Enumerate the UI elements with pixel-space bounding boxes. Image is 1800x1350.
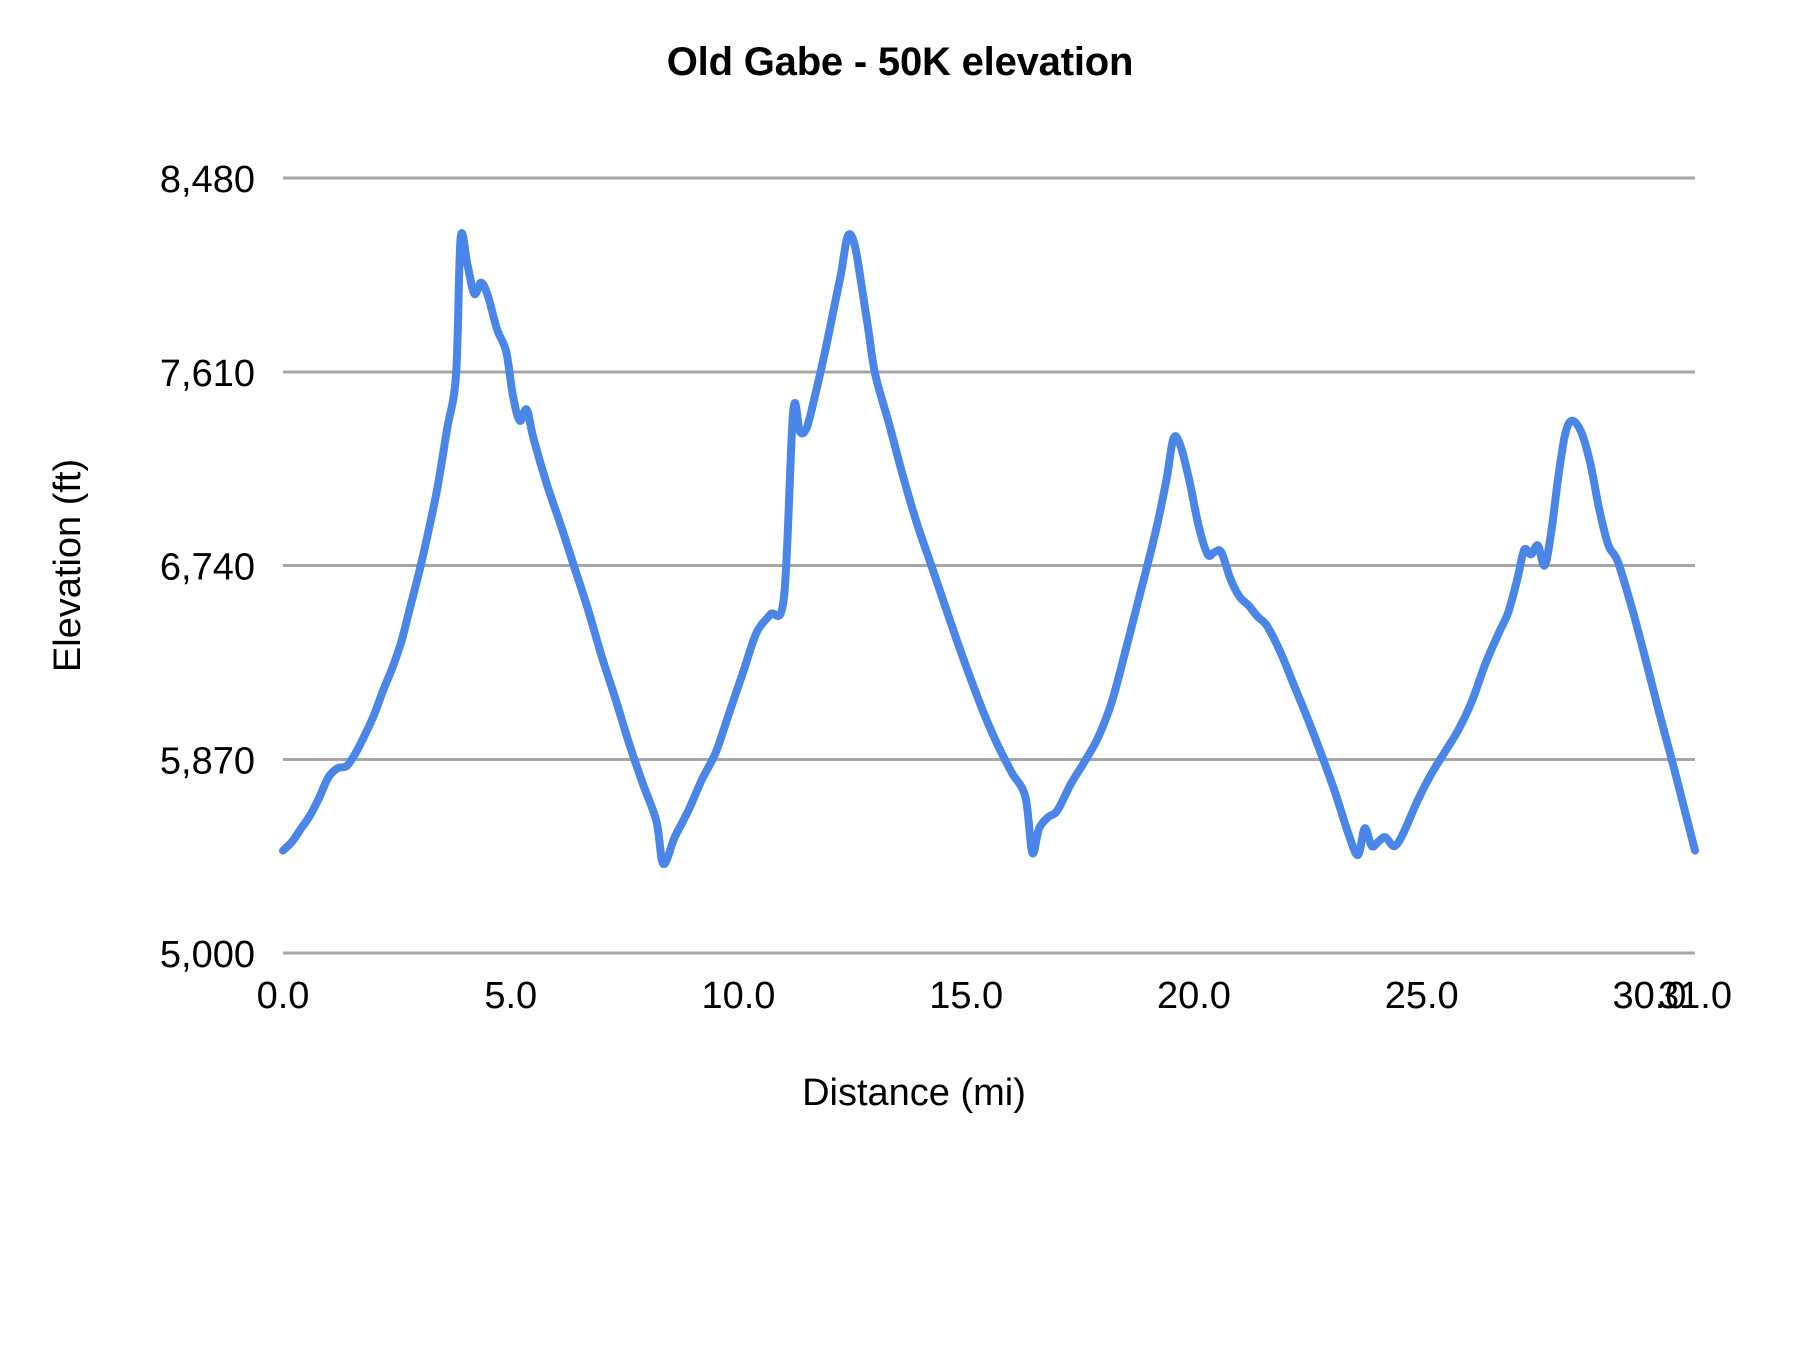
y-axis-tick-labels: 5,0005,8706,7407,6108,480 xyxy=(160,159,255,976)
y-tick-label: 6,740 xyxy=(160,547,255,589)
y-tick-label: 5,870 xyxy=(160,740,255,782)
x-tick-label: 15.0 xyxy=(929,975,1003,1017)
y-tick-label: 7,610 xyxy=(160,353,255,395)
data-series-group xyxy=(283,233,1695,864)
x-tick-label: 31.0 xyxy=(1658,975,1732,1017)
y-axis-title: Elevation (ft) xyxy=(47,459,89,672)
x-tick-label: 5.0 xyxy=(484,975,537,1017)
series-line-elevation xyxy=(283,233,1695,864)
chart-container: Old Gabe - 50K elevation 5,0005,8706,740… xyxy=(0,0,1800,1350)
x-tick-label: 0.0 xyxy=(257,975,310,1017)
x-tick-label: 10.0 xyxy=(701,975,775,1017)
x-tick-label: 20.0 xyxy=(1157,975,1231,1017)
y-tick-label: 5,000 xyxy=(160,934,255,976)
y-tick-label: 8,480 xyxy=(160,159,255,201)
gridlines xyxy=(283,178,1695,953)
x-tick-label: 25.0 xyxy=(1385,975,1459,1017)
x-axis-title: Distance (mi) xyxy=(802,1072,1026,1114)
chart-plot-area: 5,0005,8706,7407,6108,480 0.05.010.015.0… xyxy=(0,0,1800,1350)
x-axis-tick-labels: 0.05.010.015.020.025.030.031.0 xyxy=(257,975,1732,1017)
